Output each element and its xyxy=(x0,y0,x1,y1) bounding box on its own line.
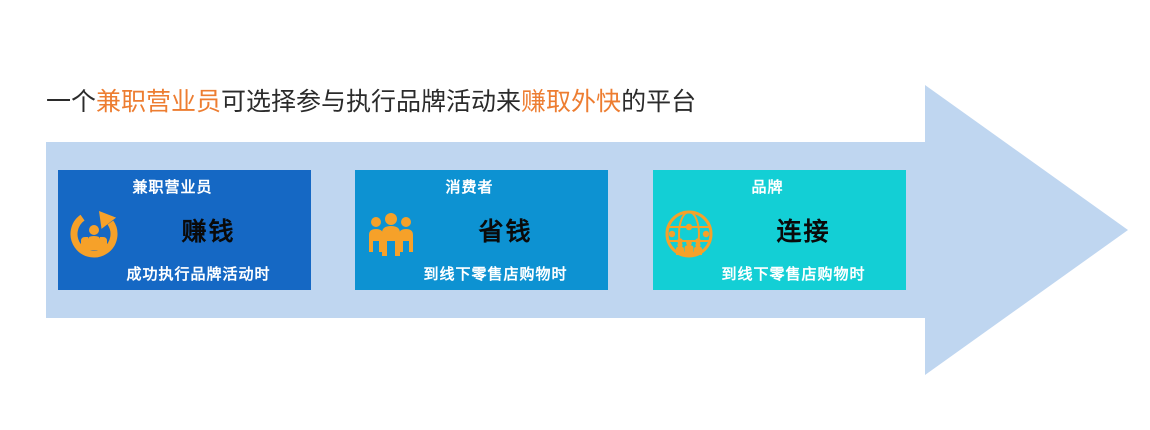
title-segment-highlight-1: 兼职营业员 xyxy=(96,89,221,116)
slide-canvas: 一个兼职营业员可选择参与执行品牌活动来赚取外快的平台 兼职营业员 xyxy=(0,0,1150,430)
card-main-label: 赚钱 xyxy=(82,212,335,248)
card-main-label: 省钱 xyxy=(379,212,632,248)
title-segment-plain-2: 可选择参与执行品牌活动来 xyxy=(221,89,521,116)
card-brand[interactable]: 品牌 xyxy=(653,170,906,290)
card-footer-label: 到线下零售店购物时 xyxy=(369,263,622,284)
card-main-label: 连接 xyxy=(677,212,930,248)
card-footer-label: 成功执行品牌活动时 xyxy=(72,263,325,284)
card-part-time-clerk[interactable]: 兼职营业员 赚钱 成功执行品牌活动时 xyxy=(58,170,311,290)
card-footer-label: 到线下零售店购物时 xyxy=(667,263,920,284)
card-consumer[interactable]: 消费者 省钱 到线下零售店购物时 xyxy=(355,170,608,290)
cards-row: 兼职营业员 赚钱 成功执行品牌活动时 消费者 xyxy=(58,170,908,290)
slide-title: 一个兼职营业员可选择参与执行品牌活动来赚取外快的平台 xyxy=(46,86,696,120)
card-header-label: 品牌 xyxy=(641,176,894,197)
title-segment-highlight-2: 赚取外快 xyxy=(521,89,621,116)
card-header-label: 消费者 xyxy=(343,176,596,197)
card-header-label: 兼职营业员 xyxy=(46,176,299,197)
title-segment-plain-1: 一个 xyxy=(46,89,96,116)
title-segment-plain-3: 的平台 xyxy=(621,89,696,116)
